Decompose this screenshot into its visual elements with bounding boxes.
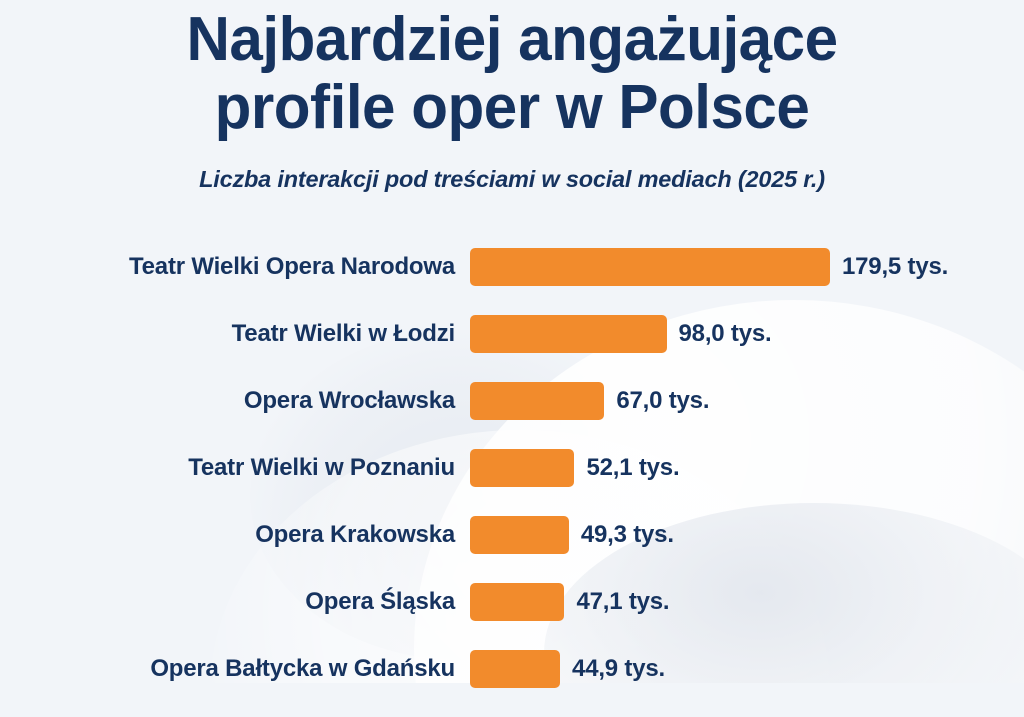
bar-row: Opera Krakowska49,3 tys.	[0, 516, 1024, 554]
bar-row: Opera Śląska47,1 tys.	[0, 583, 1024, 621]
bar-category-label: Opera Bałtycka w Gdańsku	[0, 650, 455, 688]
bar-track: 49,3 tys.	[470, 516, 674, 554]
bar-fill	[470, 382, 604, 420]
bar-value-label: 47,1 tys.	[576, 583, 669, 621]
bar-chart: Teatr Wielki Opera Narodowa179,5 tys.Tea…	[0, 248, 1024, 717]
bar-category-label: Teatr Wielki w Łodzi	[0, 315, 455, 353]
bar-row: Teatr Wielki w Poznaniu52,1 tys.	[0, 449, 1024, 487]
bar-fill	[470, 248, 830, 286]
bar-track: 98,0 tys.	[470, 315, 771, 353]
bar-category-label: Teatr Wielki Opera Narodowa	[0, 248, 455, 286]
chart-subtitle: Liczba interakcji pod treściami w social…	[0, 166, 1024, 193]
bar-value-label: 44,9 tys.	[572, 650, 665, 688]
page-title: Najbardziej angażujące profile oper w Po…	[15, 0, 1008, 142]
bar-fill	[470, 583, 564, 621]
chart-header: Najbardziej angażujące profile oper w Po…	[0, 0, 1024, 193]
bar-row: Opera Bałtycka w Gdańsku44,9 tys.	[0, 650, 1024, 688]
bar-fill	[470, 516, 569, 554]
bar-row: Opera Wrocławska67,0 tys.	[0, 382, 1024, 420]
bar-track: 67,0 tys.	[470, 382, 709, 420]
bar-category-label: Opera Krakowska	[0, 516, 455, 554]
bar-category-label: Opera Wrocławska	[0, 382, 455, 420]
bar-track: 44,9 tys.	[470, 650, 665, 688]
bar-value-label: 98,0 tys.	[679, 315, 772, 353]
bar-value-label: 52,1 tys.	[586, 449, 679, 487]
bar-value-label: 179,5 tys.	[842, 248, 948, 286]
bar-value-label: 67,0 tys.	[616, 382, 709, 420]
bar-row: Teatr Wielki Opera Narodowa179,5 tys.	[0, 248, 1024, 286]
bar-track: 52,1 tys.	[470, 449, 679, 487]
bar-category-label: Teatr Wielki w Poznaniu	[0, 449, 455, 487]
bar-fill	[470, 650, 560, 688]
bar-fill	[470, 315, 667, 353]
bar-value-label: 49,3 tys.	[581, 516, 674, 554]
bar-track: 47,1 tys.	[470, 583, 669, 621]
bar-row: Teatr Wielki w Łodzi98,0 tys.	[0, 315, 1024, 353]
bar-track: 179,5 tys.	[470, 248, 948, 286]
bar-fill	[470, 449, 574, 487]
infographic-page: Najbardziej angażujące profile oper w Po…	[0, 0, 1024, 683]
bar-category-label: Opera Śląska	[0, 583, 455, 621]
